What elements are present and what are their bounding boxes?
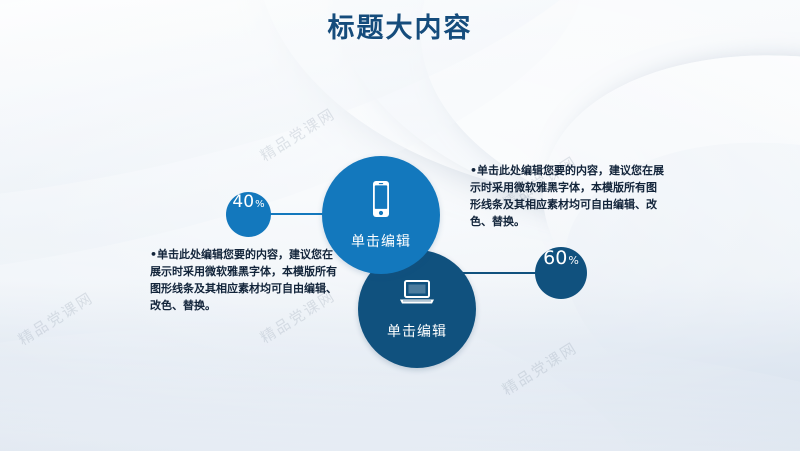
paragraph-right: •单击此处编辑您要的内容，建议您在展示时采用微软雅黑字体，本模版所有图形线条及其… [470,162,665,230]
laptop-icon [398,278,436,313]
smartphone-icon [369,180,393,223]
presentation-slide: 精品党课网 精品党课网 精品党课网 精品党课网 精品党课网 标题大内容 40% … [0,0,800,451]
percent-symbol: % [568,254,578,267]
node-top-circle[interactable]: 单击编辑 [322,156,440,274]
node-top-label: 单击编辑 [351,231,411,251]
paragraph-left: •单击此处编辑您要的内容，建议您在展示时采用微软雅黑字体，本模版所有图形线条及其… [150,246,340,314]
percent-badge-40[interactable]: 40% [226,192,271,237]
node-bottom-label: 单击编辑 [387,321,447,341]
percent-value: 40 [232,192,254,212]
page-title: 标题大内容 [0,6,800,45]
percent-value: 60 [543,247,567,269]
percent-badge-60[interactable]: 60% [535,247,587,299]
connector-line-right [462,272,542,274]
percent-symbol: % [255,199,265,210]
